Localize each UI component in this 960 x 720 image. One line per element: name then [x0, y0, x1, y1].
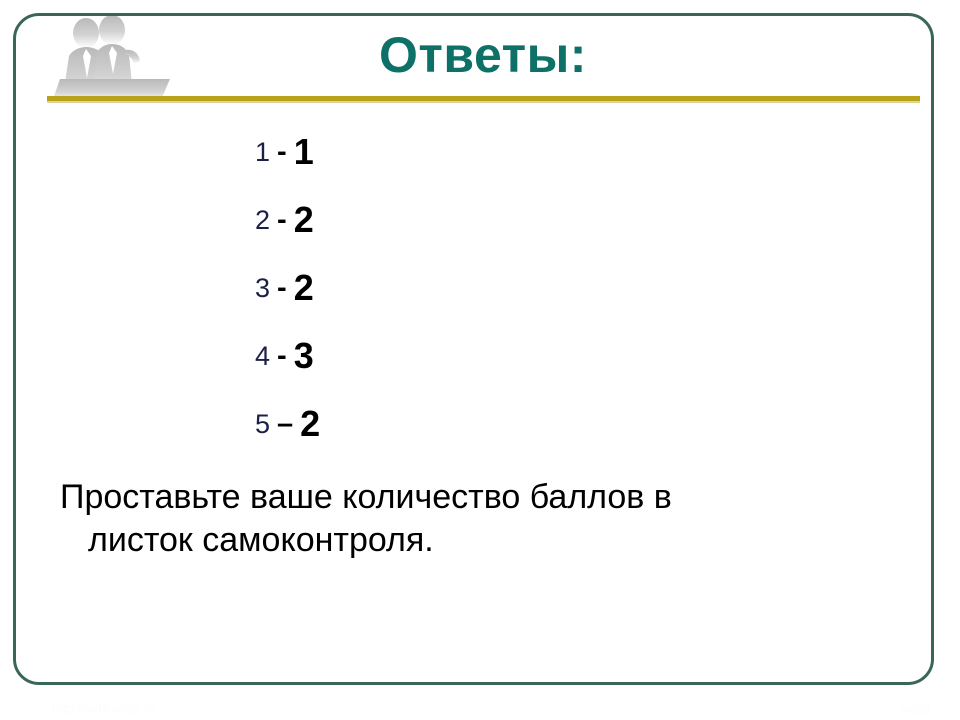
closing-instruction: Проставьте ваше количество баллов в лист…: [30, 476, 860, 562]
footer-watermark-right: Аида: [899, 701, 930, 716]
separator-dash: -: [277, 342, 287, 371]
slide-content: 1 - 1 2 - 2 3 - 2 4 - 3 5 – 2: [30, 118, 910, 562]
separator-dash: -: [277, 274, 287, 303]
separator-dash: -: [277, 206, 287, 235]
answer-value: 2: [294, 270, 314, 306]
separator-dash: –: [277, 410, 293, 439]
slide-title-area: Ответы:: [46, 18, 920, 92]
list-item: 1 - 1: [30, 118, 910, 186]
presentation-slide: Ответы: 1 - 1 2 - 2 3 - 2 4 - 3: [0, 0, 960, 720]
question-number: 3: [255, 275, 270, 302]
list-item: 3 - 2: [30, 254, 910, 322]
list-item: 4 - 3: [30, 322, 910, 390]
answer-value: 3: [294, 338, 314, 374]
answer-value: 1: [294, 134, 314, 170]
footer-watermark-left: http://aida.ucoz.ru: [52, 701, 155, 716]
question-number: 5: [255, 411, 270, 438]
question-number: 4: [255, 343, 270, 370]
question-number: 1: [255, 139, 270, 166]
answer-value: 2: [294, 202, 314, 238]
closing-line-1: Проставьте ваше количество баллов в: [60, 478, 672, 516]
question-number: 2: [255, 207, 270, 234]
page-title: Ответы:: [379, 26, 587, 84]
list-item: 2 - 2: [30, 186, 910, 254]
answers-list: 1 - 1 2 - 2 3 - 2 4 - 3 5 – 2: [30, 118, 910, 458]
answer-value: 2: [300, 406, 320, 442]
title-divider-rule: [47, 96, 920, 103]
closing-line-2: листок самоконтроля.: [60, 519, 860, 562]
list-item: 5 – 2: [30, 390, 910, 458]
separator-dash: -: [277, 138, 287, 167]
